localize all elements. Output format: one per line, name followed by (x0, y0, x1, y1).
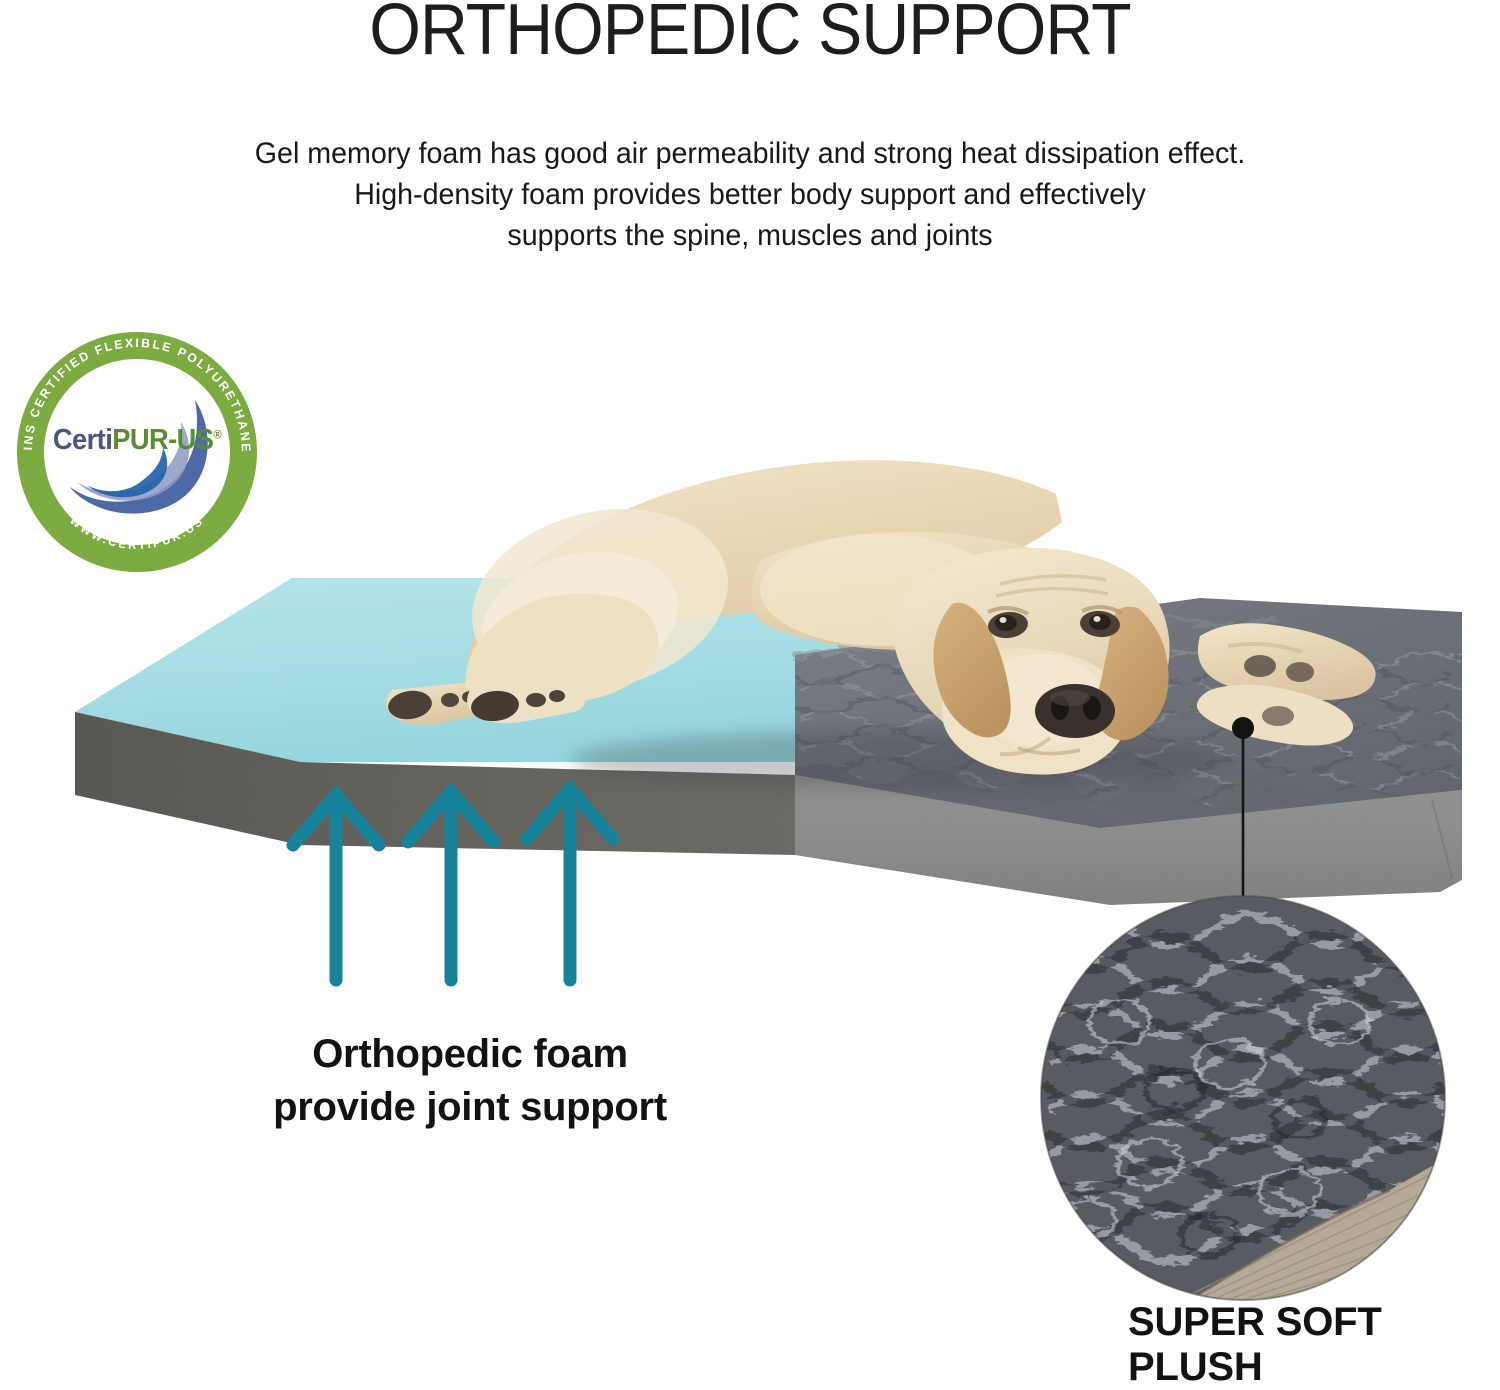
orthopedic-foam-arrows (293, 789, 613, 980)
plush-leader-dot (1232, 717, 1254, 739)
arrow-2 (408, 792, 494, 980)
foam-caption-line-2: provide joint support (273, 1085, 667, 1129)
product-illustration (0, 0, 1500, 1353)
foam-caption-line-1: Orthopedic foam (312, 1032, 628, 1076)
arrow-1 (293, 795, 379, 980)
plush-fabric-swatch (1041, 896, 1460, 1300)
super-soft-plush-caption: SUPER SOFT PLUSH (1020, 1300, 1500, 1390)
orthopedic-foam-caption: Orthopedic foam provide joint support (205, 1028, 735, 1134)
arrow-3 (527, 789, 613, 980)
